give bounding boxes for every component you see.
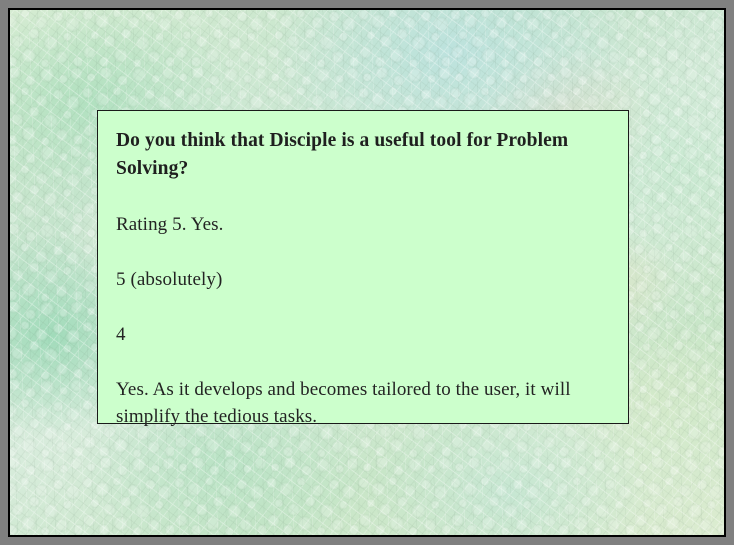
response-line-4: Yes. As it develops and becomes tailored… xyxy=(116,376,610,430)
content-text-box: Do you think that Disciple is a useful t… xyxy=(97,110,629,424)
slide-question-heading: Do you think that Disciple is a useful t… xyxy=(116,127,610,183)
response-line-2: 5 (absolutely) xyxy=(116,266,610,293)
slide-frame: Do you think that Disciple is a useful t… xyxy=(8,8,726,537)
response-line-3: 4 xyxy=(116,321,610,348)
response-line-1: Rating 5. Yes. xyxy=(116,211,610,238)
